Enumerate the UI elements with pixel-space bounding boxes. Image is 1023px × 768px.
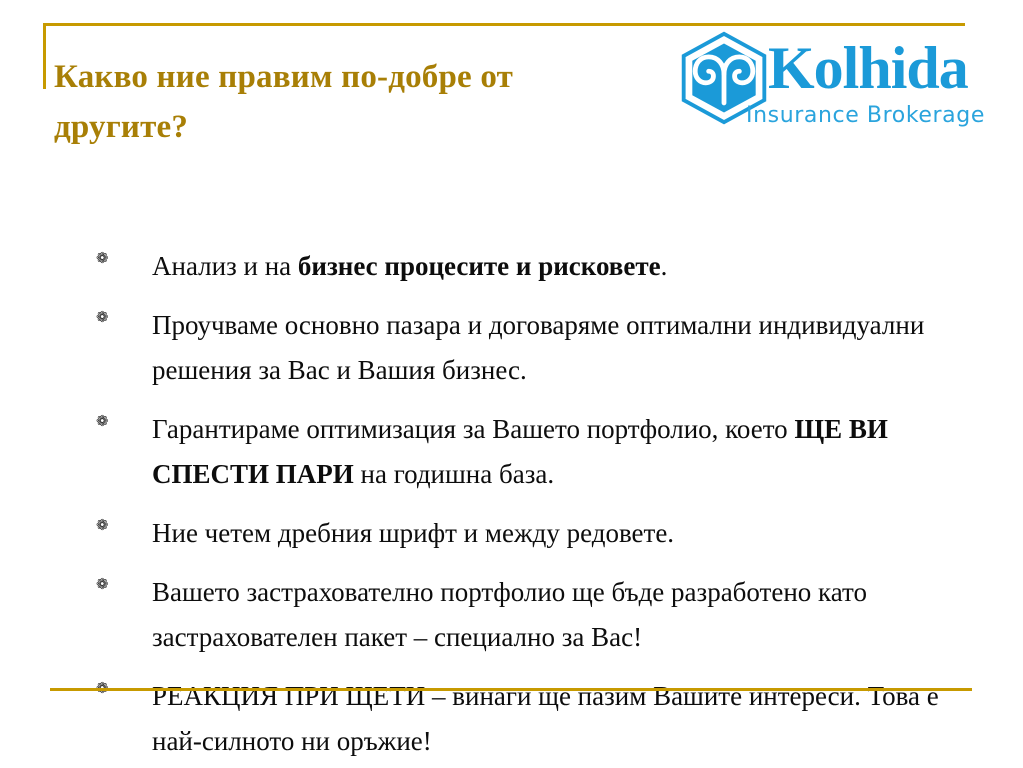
body-text: Вашето застрахователно портфолио ще бъде… — [152, 577, 867, 652]
body-text: на годишна база. — [354, 459, 554, 489]
list-item: ❁Анализ и на бизнес процесите и рисковет… — [96, 244, 986, 289]
bullet-marker-icon: ❁ — [96, 570, 152, 592]
bullet-marker-icon: ❁ — [96, 511, 152, 533]
logo-wordmark: Kolhida — [768, 36, 968, 100]
bullet-marker-icon: ❁ — [96, 303, 152, 325]
list-item: ❁Проучваме основно пазара и договаряме о… — [96, 303, 986, 393]
bullet-marker-icon: ❁ — [96, 244, 152, 266]
slide-canvas: Какво ние правим по-добре от другите? Ko… — [0, 0, 1023, 768]
footer-rule — [50, 688, 972, 691]
page-title: Какво ние правим по-добре от другите? — [54, 52, 654, 152]
brand-logo: Kolhida Insurance Brokerage — [676, 28, 986, 132]
list-item-text: Анализ и на бизнес процесите и рисковете… — [152, 244, 986, 289]
list-item: ❁Гарантираме оптимизация за Вашето портф… — [96, 407, 986, 497]
bullet-marker-icon: ❁ — [96, 407, 152, 429]
bullet-marker-icon: ❁ — [96, 674, 152, 696]
body-text: . — [661, 251, 668, 281]
list-item: ❁Вашето застрахователно портфолио ще бъд… — [96, 570, 986, 660]
body-text: Гарантираме оптимизация за Вашето портфо… — [152, 414, 794, 444]
header-rule-top — [43, 23, 965, 26]
list-item-text: Вашето застрахователно портфолио ще бъде… — [152, 570, 986, 660]
header-rule-left — [43, 23, 46, 89]
list-item-text: Проучваме основно пазара и договаряме оп… — [152, 303, 986, 393]
emphasis-text: бизнес процесите и рисковете — [298, 251, 661, 281]
bullet-list: ❁Анализ и на бизнес процесите и рисковет… — [96, 244, 986, 764]
logo-tagline: Insurance Brokerage — [746, 104, 985, 128]
list-item-text: Гарантираме оптимизация за Вашето портфо… — [152, 407, 986, 497]
list-item-text: Ние четем дребния шрифт и между редовете… — [152, 511, 986, 556]
body-text: РЕАКЦИЯ ПРИ ЩЕТИ – винаги ще пазим Вашит… — [152, 681, 939, 756]
body-text: Анализ и на — [152, 251, 298, 281]
list-item: ❁Ние четем дребния шрифт и между редовет… — [96, 511, 986, 556]
body-text: Ние четем дребния шрифт и между редовете… — [152, 518, 674, 548]
body-text: Проучваме основно пазара и договаряме оп… — [152, 310, 924, 385]
